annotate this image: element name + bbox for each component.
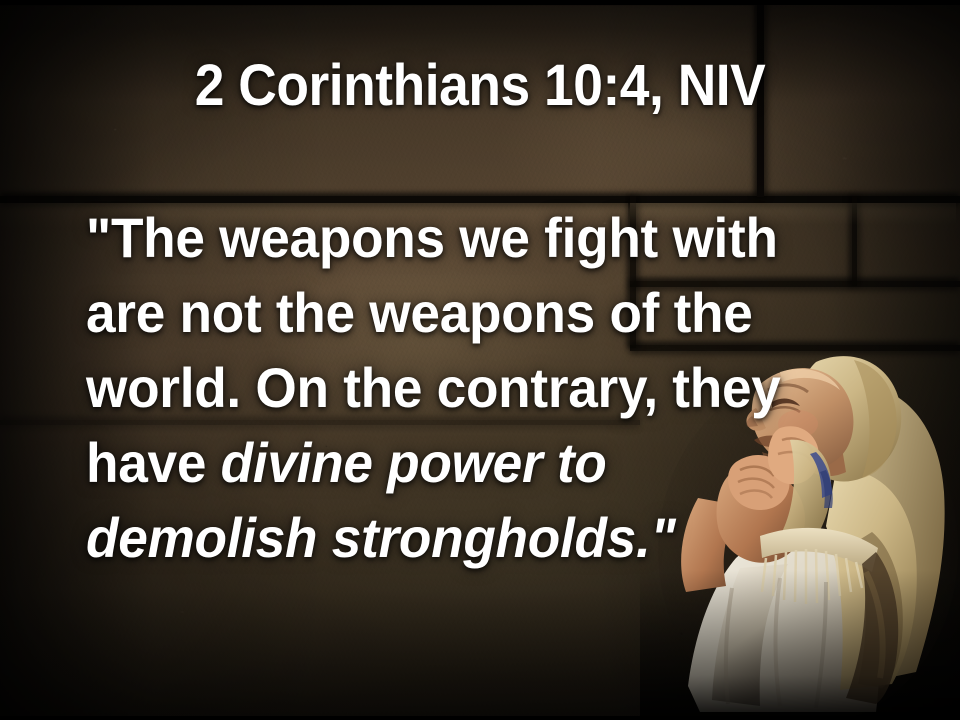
quote-line-2-upright: are not the weapons of the	[86, 281, 753, 344]
scripture-slide: 2 Corinthians 10:4, NIV "The weapons we …	[0, 0, 960, 720]
quote-line-2: are not the weapons of the	[86, 275, 846, 350]
quote-line-4-upright: have	[86, 431, 221, 494]
quote-line-3-upright: world. On the contrary, they	[86, 356, 781, 419]
quote-line-4-italic: divine power to	[221, 431, 607, 494]
quote-line-5: demolish strongholds."	[86, 500, 846, 575]
quote-line-1-upright: "The weapons we fight with	[86, 206, 778, 269]
quote-line-1: "The weapons we fight with	[86, 200, 846, 275]
quote-line-3: world. On the contrary, they	[86, 350, 846, 425]
quote-line-5-italic: demolish strongholds."	[86, 506, 675, 569]
slide-title: 2 Corinthians 10:4, NIV	[38, 52, 921, 119]
top-black-bar	[0, 0, 960, 5]
scripture-quote: "The weapons we fight with are not the w…	[86, 200, 886, 575]
bottom-black-bar	[0, 716, 960, 720]
quote-line-4: have divine power to	[86, 425, 846, 500]
